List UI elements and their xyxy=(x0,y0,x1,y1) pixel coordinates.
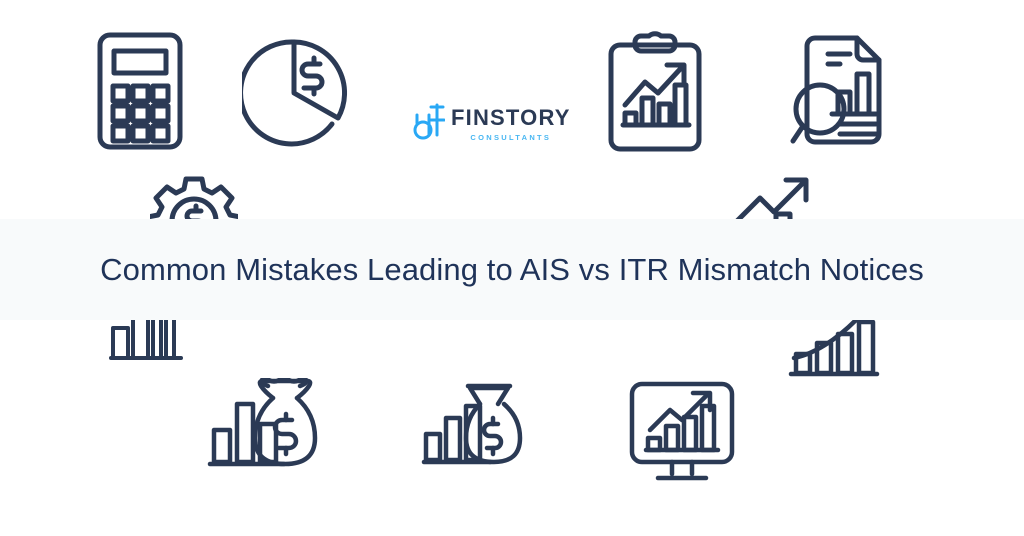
bar-chart-curve-icon xyxy=(788,318,880,380)
pie-chart-dollar-icon xyxy=(242,32,352,150)
monitor-growth-chart-icon xyxy=(628,380,736,485)
ascending-bars-money-bag-icon xyxy=(420,378,530,470)
finstory-logo-mark xyxy=(413,101,445,145)
logo-tagline: CONSULTANTS xyxy=(451,134,571,142)
brand-logo: FINSTORY CONSULTANTS xyxy=(413,92,553,154)
logo-wordmark: FINSTORY xyxy=(451,107,571,129)
calculator-icon xyxy=(93,30,187,152)
page-title: Common Mistakes Leading to AIS vs ITR Mi… xyxy=(62,251,962,289)
banner-canvas: Common Mistakes Leading to AIS vs ITR Mi… xyxy=(0,0,1024,536)
document-magnifier-icon xyxy=(790,30,892,154)
bar-chart-money-bag-icon xyxy=(206,378,320,472)
clipboard-bar-chart-icon xyxy=(605,30,705,154)
title-banner: Common Mistakes Leading to AIS vs ITR Mi… xyxy=(0,219,1024,320)
